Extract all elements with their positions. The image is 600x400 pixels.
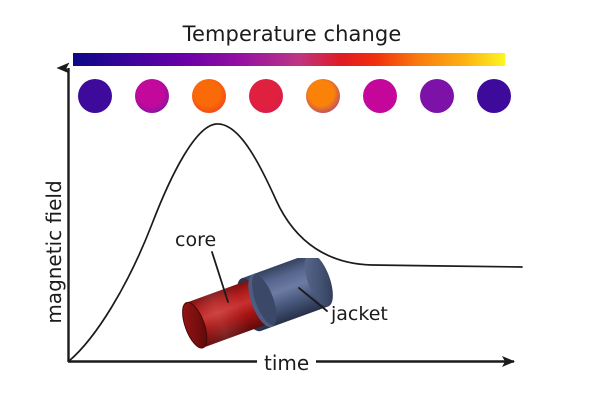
dot-marker-2	[135, 79, 169, 113]
dot-marker-5	[306, 79, 340, 113]
dot-marker-6	[363, 79, 397, 113]
dot-marker-row	[0, 0, 600, 130]
y-axis-label: magnetic field	[42, 172, 66, 332]
core-jacket-cylinder-illustration	[163, 258, 343, 350]
jacket-label: jacket	[331, 303, 388, 325]
figure-root: Temperature change magnetic field time	[0, 0, 600, 400]
x-axis-label: time	[257, 351, 316, 375]
dot-marker-1	[78, 79, 112, 113]
dot-marker-3	[192, 79, 226, 113]
core-label: core	[175, 229, 216, 251]
dot-marker-8	[477, 79, 511, 113]
dot-marker-4	[249, 79, 283, 113]
dot-marker-7	[420, 79, 454, 113]
